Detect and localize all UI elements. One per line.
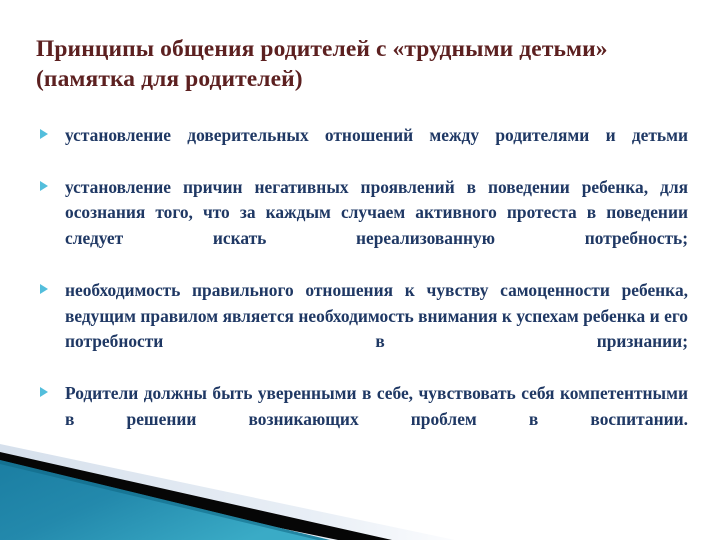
list-item: установление причин негативных проявлени… [36,175,688,278]
list-item-text: Родители должны быть уверенными в себе, … [65,383,688,429]
decor-teal-edge [0,460,330,540]
list-item-text: установление доверительных отношений меж… [65,125,688,145]
list-item-text: необходимость правильного отношения к чу… [65,280,688,352]
triangle-right-icon [40,129,48,139]
list-item: необходимость правильного отношения к чу… [36,278,688,381]
decor-black-stripe [0,452,392,540]
page-title: Принципы общения родителей с «трудными д… [36,34,676,94]
list-item-text: установление причин негативных проявлени… [65,177,688,249]
list-item: установление доверительных отношений меж… [36,123,688,175]
triangle-right-icon [40,181,48,191]
decor-teal-triangle [0,460,330,540]
slide-canvas: Принципы общения родителей с «трудными д… [0,0,720,540]
triangle-right-icon [40,387,48,397]
decor-pale-wedge [0,444,455,540]
triangle-right-icon [40,284,48,294]
bullet-list: установление доверительных отношений меж… [36,123,688,458]
list-item: Родители должны быть уверенными в себе, … [36,381,688,458]
